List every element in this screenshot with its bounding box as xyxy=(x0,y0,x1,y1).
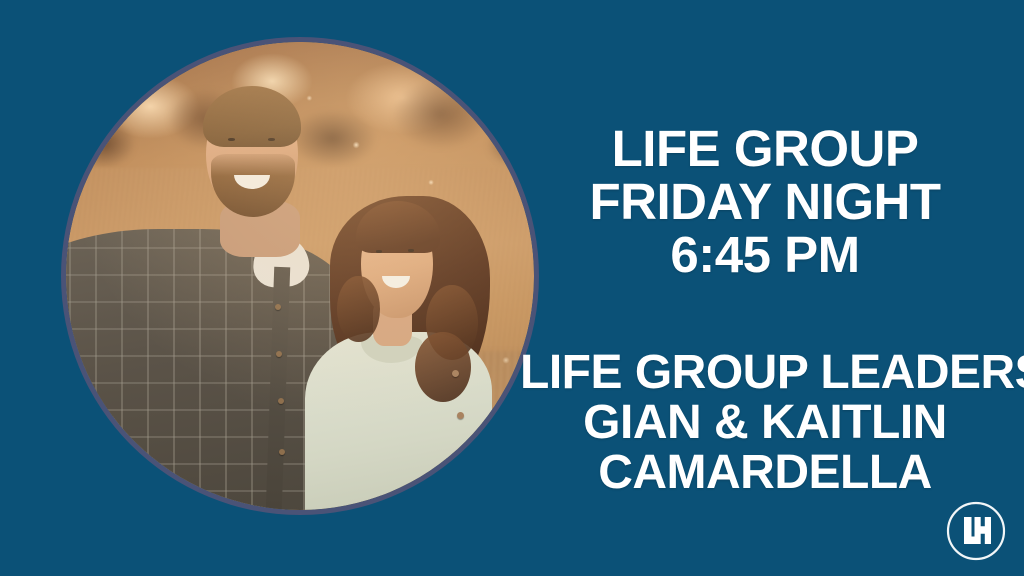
couple-photo xyxy=(66,42,534,510)
event-day-line: FRIDAY NIGHT xyxy=(520,175,1010,228)
woman-eye xyxy=(376,250,382,253)
slide-canvas: LIFE GROUP FRIDAY NIGHT 6:45 PM LIFE GRO… xyxy=(0,0,1024,576)
man-shirt-button xyxy=(278,398,284,404)
man-shirt-button xyxy=(276,351,282,357)
event-time-line: 6:45 PM xyxy=(520,228,1010,281)
woman-hair-curl xyxy=(415,332,471,402)
man-eye xyxy=(228,138,235,141)
leaders-surname-line: CAMARDELLA xyxy=(520,448,1010,498)
text-column: LIFE GROUP FRIDAY NIGHT 6:45 PM LIFE GRO… xyxy=(520,0,1010,576)
woman-sleeve-button xyxy=(452,370,459,377)
man-shirt-button xyxy=(275,304,281,310)
lh-monogram-logo-icon xyxy=(942,497,1010,565)
event-time-headline: LIFE GROUP FRIDAY NIGHT 6:45 PM xyxy=(520,122,1010,281)
leaders-firstnames-line: GIAN & KAITLIN xyxy=(520,398,1010,448)
woman-eye xyxy=(408,249,414,252)
couple-photo-circle xyxy=(66,42,534,510)
leaders-headline: LIFE GROUP LEADERS GIAN & KAITLIN CAMARD… xyxy=(520,348,1010,498)
event-title-line: LIFE GROUP xyxy=(520,122,1010,175)
woman-sleeve-button xyxy=(457,412,464,419)
leaders-label-line: LIFE GROUP LEADERS xyxy=(520,348,1010,398)
woman-hair-curl xyxy=(337,276,379,342)
